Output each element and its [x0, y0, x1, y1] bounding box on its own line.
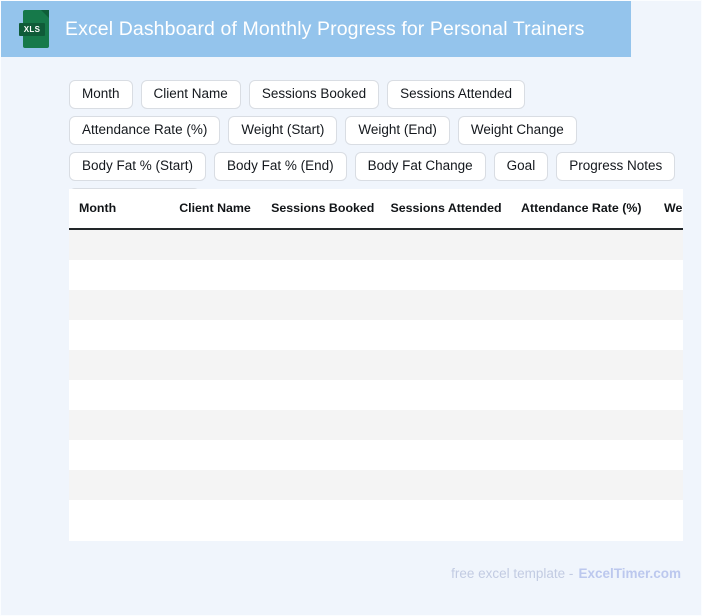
table-cell[interactable]	[167, 350, 263, 380]
table-row[interactable]	[69, 380, 683, 410]
column-header-attendance-rate[interactable]: Attendance Rate (%)	[509, 189, 653, 229]
page-title: Excel Dashboard of Monthly Progress for …	[65, 18, 584, 41]
table-cell[interactable]	[383, 320, 510, 350]
table-cell[interactable]	[653, 290, 683, 320]
table-cell[interactable]	[167, 229, 263, 260]
table-cell[interactable]	[69, 290, 167, 320]
table-cell[interactable]	[167, 320, 263, 350]
header-bar: XLS Excel Dashboard of Monthly Progress …	[1, 1, 631, 57]
table-cell[interactable]	[263, 440, 383, 470]
tag-chip-weight-start[interactable]: Weight (Start)	[228, 116, 337, 145]
footer-brand-link[interactable]: ExcelTimer.com	[578, 566, 681, 581]
table-cell[interactable]	[263, 290, 383, 320]
table-row[interactable]	[69, 410, 683, 440]
page-root: XLS Excel Dashboard of Monthly Progress …	[0, 0, 702, 616]
column-header-month[interactable]: Month	[69, 189, 167, 229]
table-row[interactable]	[69, 440, 683, 470]
xls-file-icon: XLS	[19, 10, 49, 48]
table-cell[interactable]	[509, 320, 653, 350]
table-cell[interactable]	[653, 380, 683, 410]
column-header-sessions-booked[interactable]: Sessions Booked	[263, 189, 383, 229]
table-cell[interactable]	[167, 440, 263, 470]
table-cell[interactable]	[653, 500, 683, 530]
xls-icon-fold	[41, 10, 49, 18]
table-cell[interactable]	[167, 260, 263, 290]
table-cell[interactable]	[69, 320, 167, 350]
tag-chip-body-fat-change[interactable]: Body Fat Change	[355, 152, 486, 181]
tag-chip-month[interactable]: Month	[69, 80, 133, 109]
table-cell[interactable]	[653, 229, 683, 260]
data-table: Month Client Name Sessions Booked Sessio…	[69, 189, 683, 530]
table-cell[interactable]	[167, 500, 263, 530]
table-cell[interactable]	[653, 470, 683, 500]
table-cell[interactable]	[653, 260, 683, 290]
tag-chip-sessions-attended[interactable]: Sessions Attended	[387, 80, 525, 109]
table-cell[interactable]	[653, 320, 683, 350]
tag-chip-attendance-rate[interactable]: Attendance Rate (%)	[69, 116, 220, 145]
tag-chip-body-fat-start[interactable]: Body Fat % (Start)	[69, 152, 206, 181]
table-cell[interactable]	[69, 350, 167, 380]
table-cell[interactable]	[263, 410, 383, 440]
table-cell[interactable]	[69, 440, 167, 470]
table-cell[interactable]	[509, 470, 653, 500]
column-header-client-name[interactable]: Client Name	[167, 189, 263, 229]
table-cell[interactable]	[509, 350, 653, 380]
table-cell[interactable]	[383, 260, 510, 290]
table-cell[interactable]	[263, 260, 383, 290]
table-cell[interactable]	[69, 380, 167, 410]
table-header: Month Client Name Sessions Booked Sessio…	[69, 189, 683, 229]
table-cell[interactable]	[263, 320, 383, 350]
tag-chip-client-name[interactable]: Client Name	[141, 80, 241, 109]
table-cell[interactable]	[509, 440, 653, 470]
table-cell[interactable]	[383, 410, 510, 440]
table-cell[interactable]	[263, 380, 383, 410]
table-cell[interactable]	[509, 410, 653, 440]
tag-chip-weight-end[interactable]: Weight (End)	[345, 116, 450, 145]
table-cell[interactable]	[653, 350, 683, 380]
table-cell[interactable]	[509, 500, 653, 530]
table-cell[interactable]	[653, 440, 683, 470]
column-header-weight-start[interactable]: Weight (Start)	[653, 189, 683, 229]
tag-chip-weight-change[interactable]: Weight Change	[458, 116, 577, 145]
table-cell[interactable]	[69, 470, 167, 500]
table-cell[interactable]	[383, 380, 510, 410]
table-cell[interactable]	[263, 229, 383, 260]
table-row[interactable]	[69, 470, 683, 500]
table-row[interactable]	[69, 500, 683, 530]
table-cell[interactable]	[167, 290, 263, 320]
table-row[interactable]	[69, 320, 683, 350]
table-header-row: Month Client Name Sessions Booked Sessio…	[69, 189, 683, 229]
table-cell[interactable]	[167, 380, 263, 410]
table-cell[interactable]	[383, 440, 510, 470]
column-header-sessions-attended[interactable]: Sessions Attended	[383, 189, 510, 229]
table-cell[interactable]	[69, 229, 167, 260]
table-cell[interactable]	[69, 260, 167, 290]
table-cell[interactable]	[167, 410, 263, 440]
table-cell[interactable]	[383, 470, 510, 500]
table-cell[interactable]	[509, 380, 653, 410]
table-cell[interactable]	[69, 410, 167, 440]
footer: free excel template -ExcelTimer.com	[451, 566, 681, 581]
xls-icon-label: XLS	[19, 23, 45, 36]
table-cell[interactable]	[263, 470, 383, 500]
tag-chip-goal[interactable]: Goal	[494, 152, 549, 181]
footer-free-text: free excel template -	[451, 566, 573, 581]
table-cell[interactable]	[383, 229, 510, 260]
table-row[interactable]	[69, 229, 683, 260]
table-cell[interactable]	[263, 500, 383, 530]
table-row[interactable]	[69, 260, 683, 290]
table-cell[interactable]	[509, 260, 653, 290]
table-cell[interactable]	[509, 290, 653, 320]
tag-chip-sessions-booked[interactable]: Sessions Booked	[249, 80, 379, 109]
table-cell[interactable]	[167, 470, 263, 500]
table-cell[interactable]	[263, 350, 383, 380]
data-table-container: Month Client Name Sessions Booked Sessio…	[69, 189, 683, 541]
table-row[interactable]	[69, 290, 683, 320]
table-body	[69, 229, 683, 530]
table-cell[interactable]	[653, 410, 683, 440]
table-cell[interactable]	[383, 500, 510, 530]
table-cell[interactable]	[69, 500, 167, 530]
table-cell[interactable]	[383, 350, 510, 380]
tag-chip-body-fat-end[interactable]: Body Fat % (End)	[214, 152, 347, 181]
tag-chip-progress-notes[interactable]: Progress Notes	[556, 152, 675, 181]
table-row[interactable]	[69, 350, 683, 380]
table-cell[interactable]	[509, 229, 653, 260]
table-cell[interactable]	[383, 290, 510, 320]
